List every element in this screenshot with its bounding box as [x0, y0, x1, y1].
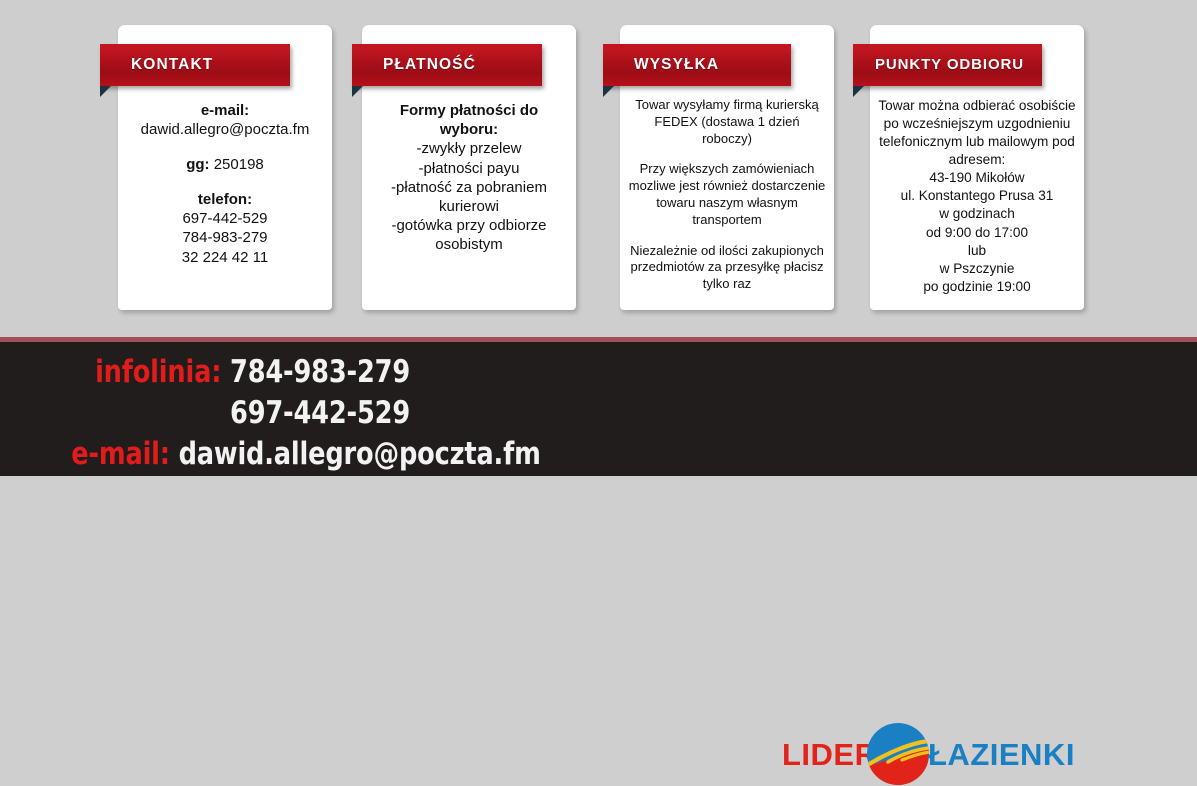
card-line: dawid.allegro@poczta.fm	[118, 120, 332, 139]
card-line: Niezależnie od ilości zakupionych	[620, 243, 834, 260]
card-ribbon-kontakt: KONTAKT	[100, 44, 290, 86]
card-line: FEDEX (dostawa 1 dzień	[620, 114, 834, 131]
card-line: -płatności payu	[362, 159, 576, 178]
footer-phone-1: 784-983-279	[230, 354, 410, 390]
info-card-platnosc: PŁATNOŚĆ Formy płatności do wyboru: -zwy…	[362, 25, 576, 310]
card-ribbon-punkty-odbioru: PUNKTY ODBIORU	[853, 44, 1042, 86]
card-title-punkty-odbioru: PUNKTY ODBIORU	[875, 44, 1024, 86]
card-line: osobistym	[362, 235, 576, 254]
card-line: telefonicznym lub mailowym pod	[870, 133, 1084, 151]
card-line: Towar można odbierać osobiście	[870, 97, 1084, 115]
card-body-wysylka: Towar wysyłamy firmą kurierską FEDEX (do…	[620, 97, 834, 293]
footer-contact-block: infolinia: 784-983-279 697-442-529 e-mai…	[51, 352, 640, 476]
card-line: mozliwe jest również dostarczenie	[620, 178, 834, 195]
footer-email-value: dawid.allegro@poczta.fm	[179, 436, 541, 472]
card-ribbon-platnosc: PŁATNOŚĆ	[352, 44, 542, 86]
footer-line-phone-2: 697-442-529	[51, 393, 640, 434]
gg-label: gg:	[186, 156, 209, 173]
card-line: adresem:	[870, 151, 1084, 169]
logo-word-lider: LIDER	[782, 737, 878, 773]
content-area: KONTAKT e-mail: dawid.allegro@poczta.fm …	[0, 0, 1197, 337]
card-line: -płatność za pobraniem	[362, 178, 576, 197]
card-line: tylko raz	[620, 276, 834, 293]
card-line: lub	[870, 242, 1084, 260]
card-line: ul. Konstantego Prusa 31	[870, 187, 1084, 205]
card-body-punkty-odbioru: Towar można odbierać osobiście po wcześn…	[870, 97, 1084, 296]
card-line: e-mail:	[118, 101, 332, 120]
spacer	[620, 148, 834, 162]
logo-word-lazienki: ŁAZIENKI	[928, 737, 1075, 773]
footer-email-label: e-mail:	[71, 436, 170, 472]
ribbon-fold-icon	[853, 86, 864, 97]
info-card-kontakt: KONTAKT e-mail: dawid.allegro@poczta.fm …	[118, 25, 332, 310]
footer-infolinia-label: infolinia:	[95, 354, 221, 390]
card-line: w godzinach	[870, 205, 1084, 223]
card-line: gg: 250198	[118, 155, 332, 174]
card-line: -zwykły przelew	[362, 139, 576, 158]
card-line: Przy większych zamówieniach	[620, 161, 834, 178]
spacer	[118, 139, 332, 155]
logo-circle-swoosh-icon	[866, 722, 930, 786]
card-line: 697-442-529	[118, 209, 332, 228]
card-line: 784-983-279	[118, 228, 332, 247]
card-line: Formy płatności do	[362, 101, 576, 120]
card-line: 32 224 42 11	[118, 248, 332, 267]
spacer	[118, 174, 332, 190]
ribbon-fold-icon	[352, 86, 363, 97]
info-card-wysylka: WYSYŁKA Towar wysyłamy firmą kurierską F…	[620, 25, 834, 310]
card-line: roboczy)	[620, 131, 834, 148]
card-title-kontakt: KONTAKT	[131, 44, 213, 86]
card-title-wysylka: WYSYŁKA	[634, 44, 719, 86]
card-title-platnosc: PŁATNOŚĆ	[383, 44, 476, 86]
footer-phone-2: 697-442-529	[230, 395, 410, 431]
card-line: po godzinie 19:00	[870, 278, 1084, 296]
ribbon-fold-icon	[100, 86, 111, 97]
card-line: po wcześniejszym uzgodnieniu	[870, 115, 1084, 133]
footer-line-infolinia: infolinia: 784-983-279	[51, 352, 640, 393]
card-line: 43-190 Mikołów	[870, 169, 1084, 187]
card-line: od 9:00 do 17:00	[870, 224, 1084, 242]
card-body-kontakt: e-mail: dawid.allegro@poczta.fm gg: 2501…	[118, 101, 332, 267]
info-card-punkty-odbioru: PUNKTY ODBIORU Towar można odbierać osob…	[870, 25, 1084, 310]
gg-value: 250198	[210, 156, 264, 173]
card-body-platnosc: Formy płatności do wyboru: -zwykły przel…	[362, 101, 576, 255]
company-logo: LIDER ŁAZIENKI	[782, 722, 1092, 786]
card-line: Towar wysyłamy firmą kurierską	[620, 97, 834, 114]
footer-bar: infolinia: 784-983-279 697-442-529 e-mai…	[0, 337, 1197, 476]
card-line: wyboru:	[362, 120, 576, 139]
card-line: transportem	[620, 212, 834, 229]
card-line: kurierowi	[362, 197, 576, 216]
card-line: przedmiotów za przesyłkę płacisz	[620, 259, 834, 276]
card-line: w Pszczynie	[870, 260, 1084, 278]
card-line: telefon:	[118, 190, 332, 209]
spacer	[620, 229, 834, 243]
card-line: -gotówka przy odbiorze	[362, 216, 576, 235]
footer-line-email: e-mail: dawid.allegro@poczta.fm	[51, 434, 640, 475]
card-ribbon-wysylka: WYSYŁKA	[603, 44, 791, 86]
card-line: towaru naszym własnym	[620, 195, 834, 212]
ribbon-fold-icon	[603, 86, 614, 97]
